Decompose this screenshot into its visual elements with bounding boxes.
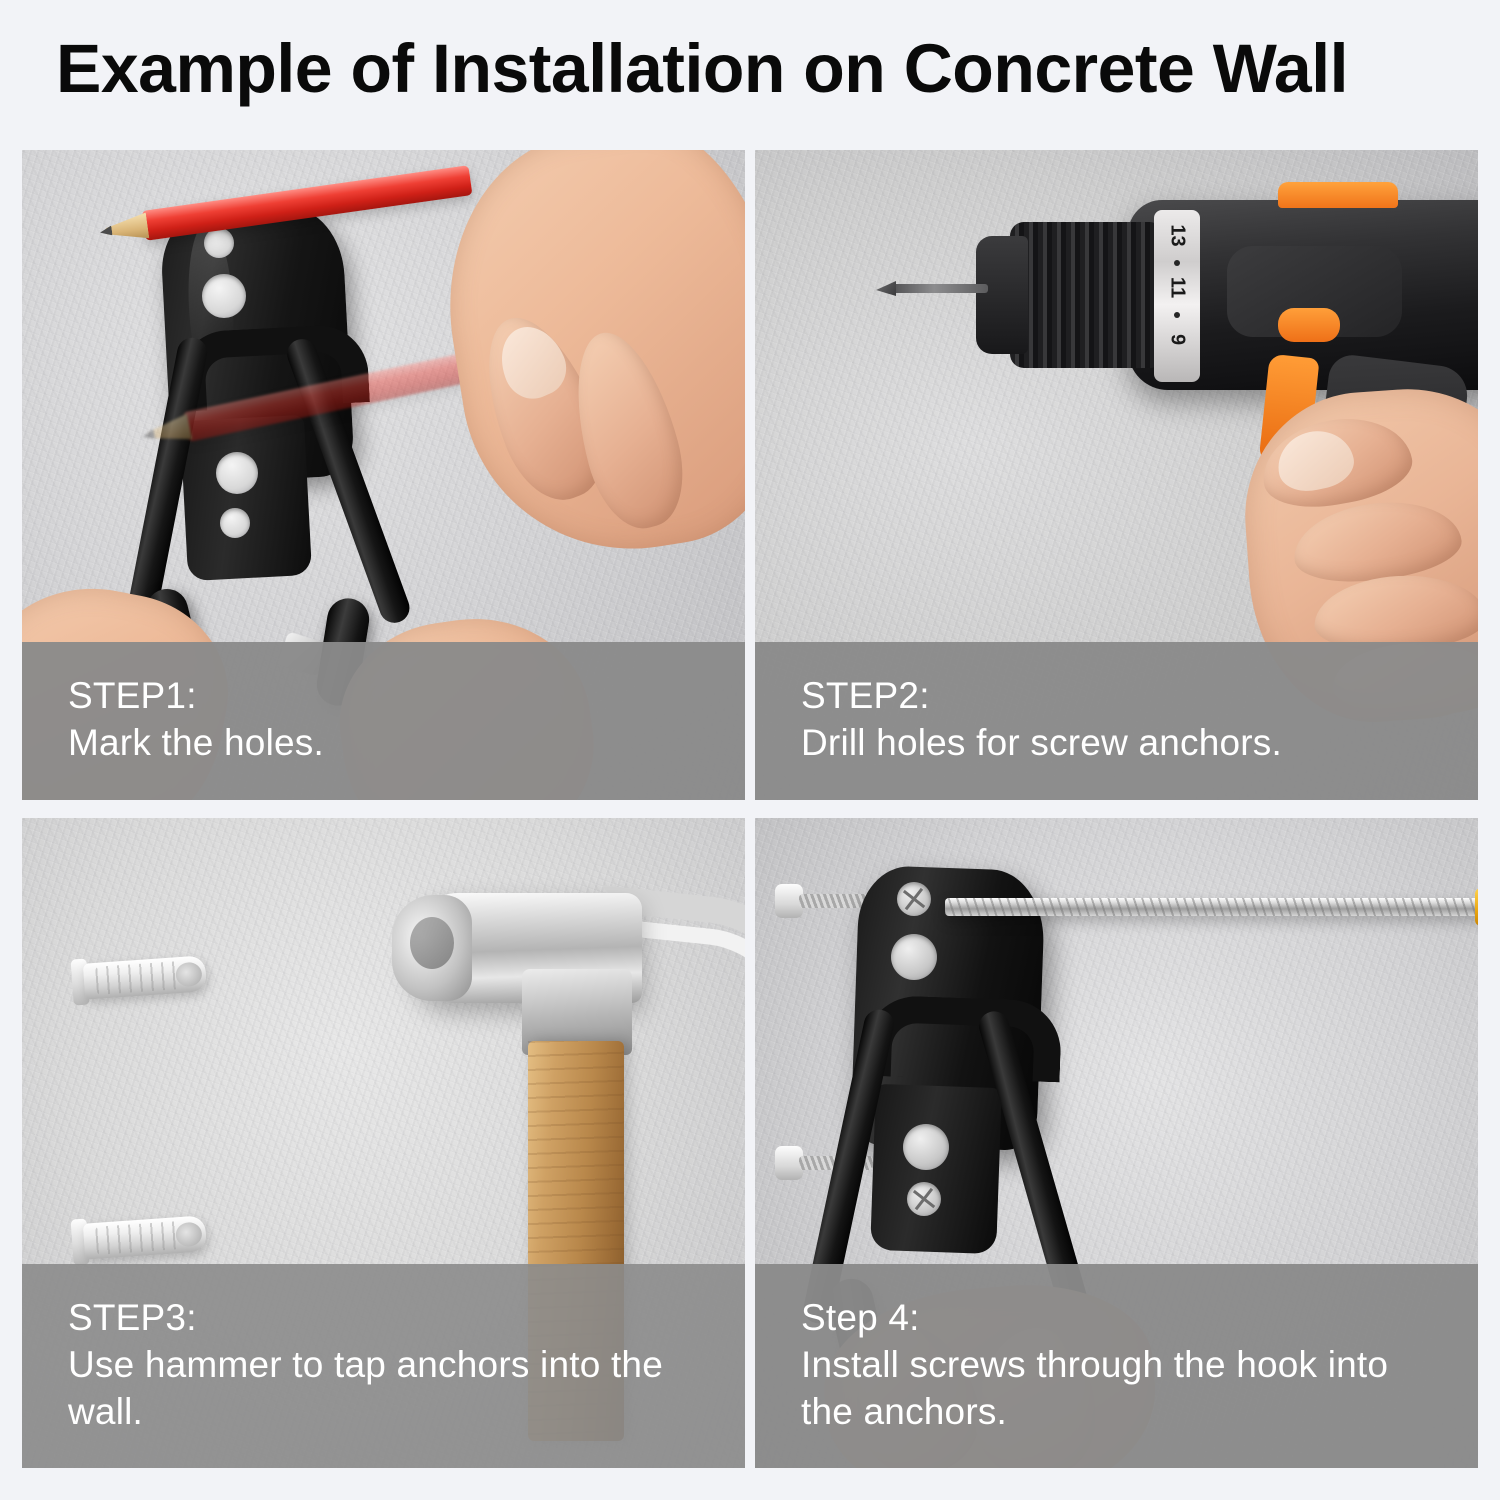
hook-hole-top-large: [202, 274, 246, 318]
screw-installed-bottom: [907, 1182, 941, 1216]
step-2-caption: STEP2: Drill holes for screw anchors.: [755, 642, 1478, 800]
hook-hole-bottom-small: [220, 508, 250, 538]
steps-grid: STEP1: Mark the holes. 13 11 9: [22, 150, 1478, 1468]
hook-hole-bottom-large: [216, 452, 258, 494]
step-4-description: Install screws through the hook into the…: [801, 1341, 1441, 1435]
step-4-caption: Step 4: Install screws through the hook …: [755, 1264, 1478, 1468]
drill-bit: [890, 284, 988, 293]
infographic-page: Example of Installation on Concrete Wall: [0, 0, 1500, 1500]
step-3-label: STEP3:: [68, 1294, 708, 1341]
hook-hole-top-large: [891, 934, 937, 980]
drill-top-accent: [1278, 182, 1398, 208]
page-title: Example of Installation on Concrete Wall: [56, 32, 1348, 106]
clutch-number-9: 9: [1166, 317, 1189, 363]
step-panel-2: 13 11 9 STEP2:: [755, 150, 1478, 800]
drill-chuck: [1010, 222, 1160, 368]
step-3-description: Use hammer to tap anchors into the wall.: [68, 1341, 708, 1435]
step-panel-3: STEP3: Use hammer to tap anchors into th…: [22, 818, 745, 1468]
anchor-ribs: [95, 961, 183, 995]
hook-lower-plate: [180, 415, 312, 581]
hook-lower-plate: [870, 1084, 1002, 1254]
anchor-ribs: [95, 1221, 183, 1255]
step-1-caption: STEP1: Mark the holes.: [22, 642, 745, 800]
installed-anchor-top: [775, 884, 871, 918]
cordless-drill-illustration: 13 11 9: [948, 180, 1478, 660]
finger: [1289, 493, 1465, 589]
screwdriver-shaft: [945, 898, 1478, 916]
hook-hole-bottom-large: [903, 1124, 949, 1170]
hook-arm-bridge: [864, 995, 1063, 1083]
step-panel-4: Step 4: Install screws through the hook …: [755, 818, 1478, 1468]
drill-clutch-collar: 13 11 9: [1154, 210, 1200, 382]
step-1-description: Mark the holes.: [68, 719, 708, 766]
screw-installed-top: [897, 882, 931, 916]
drill-nose: [976, 236, 1028, 354]
step-2-label: STEP2:: [801, 672, 1441, 719]
drill-direction-button: [1278, 308, 1340, 342]
step-1-label: STEP1:: [68, 672, 708, 719]
hook-hole-top-small: [204, 228, 234, 258]
step-3-caption: STEP3: Use hammer to tap anchors into th…: [22, 1264, 745, 1468]
clutch-number-13: 13: [1166, 213, 1189, 259]
step-4-label: Step 4:: [801, 1294, 1441, 1341]
screwdriver-ferrule: [1475, 888, 1478, 926]
step-2-description: Drill holes for screw anchors.: [801, 719, 1441, 766]
hammer-striking-face: [392, 895, 472, 1001]
step-panel-1: STEP1: Mark the holes.: [22, 150, 745, 800]
screwdriver-illustration: [945, 848, 1478, 988]
clutch-number-11: 11: [1166, 265, 1189, 311]
